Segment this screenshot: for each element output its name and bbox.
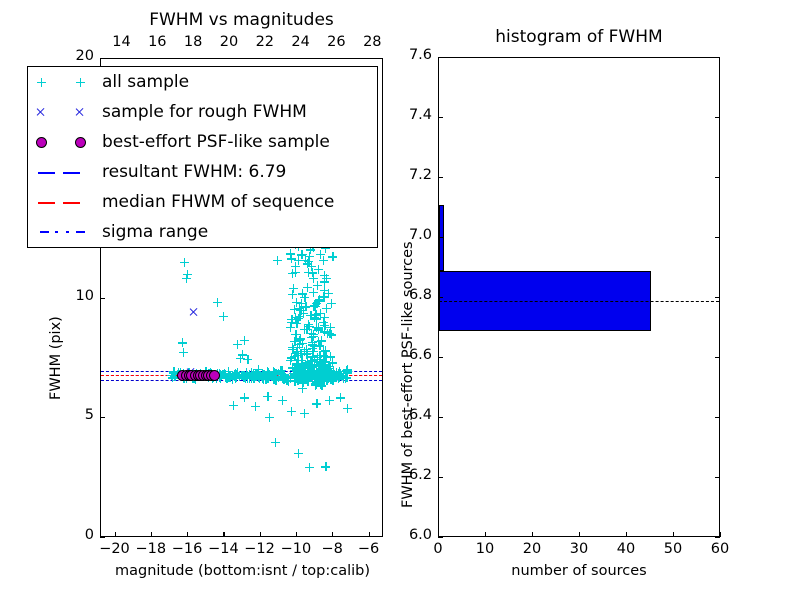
scatter-point-all-sample	[316, 369, 325, 378]
scatter-point-all-sample	[320, 362, 329, 371]
scatter-point-all-sample	[313, 377, 322, 386]
scatter-point-all-sample	[316, 380, 325, 389]
scatter-point-all-sample	[263, 392, 272, 401]
scatter-xlabel: magnitude (bottom:isnt / top:calib)	[101, 563, 384, 579]
scatter-point-all-sample	[311, 302, 320, 311]
scatter-point-all-sample	[310, 355, 319, 364]
scatter-point-all-sample	[297, 360, 306, 369]
legend-label-3: resultant FWHM: 6.79	[102, 162, 286, 182]
scatter-point-all-sample	[314, 366, 323, 375]
scatter-point-all-sample	[296, 306, 305, 315]
dashdot-line-icon	[66, 231, 69, 233]
scatter-point-all-sample	[292, 319, 301, 328]
scatter-point-all-sample	[295, 340, 304, 349]
scatter-ytick-label: 5	[48, 407, 94, 423]
scatter-point-all-sample	[302, 373, 311, 382]
histogram-ylabel: FWHM of best-effort PSF-like sources	[400, 241, 416, 508]
histogram-xtick-label: 20	[506, 541, 558, 557]
scatter-point-all-sample	[300, 362, 309, 371]
histogram-xtick-mark	[485, 532, 486, 537]
scatter-point-all-sample	[302, 350, 311, 359]
scatter-point-all-sample	[343, 365, 352, 374]
scatter-point-all-sample	[295, 312, 304, 321]
scatter-point-all-sample	[309, 330, 318, 339]
scatter-point-all-sample	[325, 329, 334, 338]
scatter-point-all-sample	[308, 361, 317, 370]
scatter-point-all-sample	[310, 342, 319, 351]
scatter-point-all-sample	[308, 352, 317, 361]
scatter-point-all-sample	[291, 330, 300, 339]
scatter-point-all-sample	[315, 295, 324, 304]
scatter-xtick-mark	[223, 532, 224, 537]
scatter-ytick-mark	[100, 298, 105, 299]
scatter-point-all-sample	[300, 409, 309, 418]
scatter-point-all-sample	[308, 347, 317, 356]
scatter-point-all-sample	[295, 304, 304, 313]
histogram-xtick-mark	[626, 532, 627, 537]
histogram-ytick-mark-right	[715, 237, 720, 238]
scatter-xtick-mark	[332, 532, 333, 537]
histogram-xtick-label: 40	[600, 541, 652, 557]
histogram-ytick-mark	[438, 117, 443, 118]
scatter-point-all-sample	[321, 365, 330, 374]
scatter-point-all-sample	[317, 359, 326, 368]
scatter-point-all-sample	[315, 351, 324, 360]
scatter-point-all-sample	[315, 357, 324, 366]
scatter-point-all-sample	[215, 369, 224, 378]
scatter-point-all-sample	[313, 353, 322, 362]
scatter-point-all-sample	[326, 366, 335, 375]
scatter-ytick-label: 20	[48, 48, 94, 64]
scatter-point-all-sample	[300, 347, 309, 356]
scatter-point-all-sample	[343, 404, 352, 413]
dashdot-line-icon	[76, 231, 85, 233]
scatter-point-all-sample	[251, 402, 260, 411]
scatter-point-all-sample	[311, 380, 320, 389]
histogram-xtick-label: 10	[459, 541, 511, 557]
scatter-point-all-sample	[182, 274, 191, 283]
histogram-ytick-mark	[438, 357, 443, 358]
scatter-point-all-sample	[219, 312, 228, 321]
scatter-point-all-sample	[319, 351, 328, 360]
scatter-point-all-sample	[290, 377, 299, 386]
scatter-point-all-sample	[328, 358, 337, 367]
scatter-point-all-sample	[291, 262, 300, 271]
scatter-point-all-sample	[307, 357, 316, 366]
legend-label-5: sigma range	[102, 222, 208, 242]
scatter-point-all-sample	[322, 352, 331, 361]
scatter-point-all-sample	[178, 338, 187, 347]
scatter-point-all-sample	[319, 347, 328, 356]
scatter-point-all-sample	[298, 250, 307, 259]
scatter-point-all-sample	[311, 381, 320, 390]
scatter-point-all-sample	[233, 340, 242, 349]
legend-handle-cross-icon	[28, 97, 102, 127]
histogram-xtick-label: 50	[647, 541, 699, 557]
scatter-point-all-sample	[301, 373, 310, 382]
scatter-point-all-sample	[294, 351, 303, 360]
scatter-point-all-sample	[292, 330, 301, 339]
plus-icon	[76, 78, 85, 87]
scatter-point-all-sample	[327, 299, 336, 308]
scatter-point-all-sample	[229, 401, 238, 410]
scatter-point-all-sample	[304, 268, 313, 277]
scatter-point-all-sample	[313, 281, 322, 290]
scatter-point-all-sample	[312, 360, 321, 369]
scatter-point-all-sample	[183, 270, 192, 279]
scatter-point-all-sample	[312, 323, 321, 332]
scatter-xtick-label: −6	[343, 541, 395, 557]
scatter-point-all-sample	[278, 396, 287, 405]
legend-entry-1: sample for rough FWHM	[28, 97, 377, 127]
scatter-point-all-sample	[321, 346, 330, 355]
histogram-ytick-mark-right	[715, 117, 720, 118]
scatter-point-all-sample	[297, 356, 306, 365]
scatter-point-all-sample	[320, 271, 329, 280]
scatter-point-all-sample	[302, 349, 311, 358]
scatter-point-all-sample	[298, 373, 307, 382]
scatter-point-all-sample	[236, 354, 245, 363]
scatter-point-all-sample	[305, 252, 314, 261]
scatter-point-all-sample	[325, 396, 334, 405]
dashdot-line-icon	[40, 231, 49, 233]
legend-entry-2: best-effort PSF-like sample	[28, 127, 377, 157]
scatter-point-all-sample	[297, 299, 306, 308]
scatter-point-all-sample	[320, 360, 329, 369]
scatter-point-all-sample	[307, 333, 316, 342]
scatter-point-all-sample	[320, 286, 329, 295]
scatter-point-all-sample	[312, 399, 321, 408]
scatter-point-all-sample	[303, 377, 312, 386]
scatter-point-all-sample	[240, 336, 249, 345]
scatter-point-all-sample	[309, 347, 318, 356]
scatter-point-all-sample	[322, 373, 331, 382]
scatter-point-all-sample	[252, 369, 261, 378]
scatter-point-all-sample	[254, 365, 263, 374]
histogram-ytick-mark-right	[715, 477, 720, 478]
scatter-point-all-sample	[271, 438, 280, 447]
scatter-point-all-sample	[306, 357, 315, 366]
histogram-ytick-mark	[438, 417, 443, 418]
scatter-point-all-sample	[288, 269, 297, 278]
scatter-point-all-sample	[207, 369, 216, 378]
scatter-point-all-sample	[303, 259, 312, 268]
dot-icon	[36, 137, 47, 148]
legend-label-4: median FHWM of sequence	[102, 192, 334, 212]
legend-entry-5: sigma range	[28, 217, 377, 247]
reference-line-sigma-range-low	[101, 380, 382, 381]
dashed-line-icon	[63, 202, 80, 204]
scatter-point-all-sample	[298, 377, 307, 386]
scatter-point-all-sample	[295, 336, 304, 345]
cross-icon	[36, 107, 46, 117]
scatter-point-all-sample	[320, 313, 329, 322]
scatter-point-all-sample	[287, 407, 296, 416]
dashed-line-icon	[63, 172, 80, 174]
scatter-ylabel: FWHM (pix)	[48, 316, 64, 400]
scatter-point-all-sample	[309, 332, 318, 341]
histogram-ytick-label: 7.4	[380, 107, 432, 123]
scatter-point-all-sample	[305, 463, 314, 472]
scatter-point-all-sample	[287, 353, 296, 362]
scatter-point-all-sample	[297, 362, 306, 371]
scatter-point-all-sample	[308, 268, 317, 277]
scatter-point-all-sample	[303, 358, 312, 367]
scatter-xtick-mark	[151, 532, 152, 537]
scatter-point-all-sample	[273, 256, 282, 265]
scatter-point-all-sample	[293, 359, 302, 368]
scatter-point-all-sample	[287, 315, 296, 324]
scatter-point-all-sample	[306, 366, 315, 375]
dashed-line-icon	[38, 172, 55, 174]
scatter-point-all-sample	[294, 314, 303, 323]
scatter-point-all-sample	[321, 462, 330, 471]
scatter-point-all-sample	[293, 343, 302, 352]
histogram-xtick-mark	[532, 532, 533, 537]
legend-handle-dashed-line-icon	[28, 187, 102, 217]
legend-entry-3: resultant FWHM: 6.79	[28, 157, 377, 187]
scatter-point-all-sample	[289, 369, 298, 378]
scatter-point-all-sample	[238, 350, 247, 359]
legend-handle-dashed-line-icon	[28, 157, 102, 187]
histogram-ytick-mark-right	[715, 357, 720, 358]
scatter-point-all-sample	[288, 345, 297, 354]
histogram-ytick-mark-right	[715, 177, 720, 178]
scatter-point-all-sample	[286, 323, 295, 332]
scatter-point-all-sample	[320, 293, 329, 302]
scatter-point-all-sample	[296, 334, 305, 343]
legend-handle-dashdot-line-icon	[28, 217, 102, 247]
scatter-point-all-sample	[327, 330, 336, 339]
histogram-ytick-mark	[438, 537, 443, 538]
scatter-point-all-sample	[312, 310, 321, 319]
histogram-ytick-mark	[438, 177, 443, 178]
scatter-point-all-sample	[298, 360, 307, 369]
histogram-ytick-mark	[438, 237, 443, 238]
histogram-plot-area	[439, 58, 719, 536]
histogram-ytick-mark-right	[715, 297, 720, 298]
scatter-point-all-sample	[315, 296, 324, 305]
scatter-point-rough-fwhm	[189, 307, 199, 317]
scatter-point-all-sample	[286, 249, 295, 258]
scatter-point-all-sample	[297, 250, 306, 259]
scatter-point-all-sample	[302, 325, 311, 334]
scatter-point-all-sample	[316, 309, 325, 318]
scatter-point-all-sample	[287, 318, 296, 327]
scatter-point-all-sample	[316, 359, 325, 368]
scatter-point-all-sample	[320, 321, 329, 330]
scatter-point-all-sample	[342, 366, 351, 375]
scatter-point-all-sample	[318, 369, 327, 378]
scatter-point-all-sample	[294, 449, 303, 458]
scatter-point-all-sample	[305, 322, 314, 331]
cross-icon	[75, 107, 85, 117]
histogram-xtick-mark	[579, 532, 580, 537]
scatter-point-all-sample	[292, 361, 301, 370]
histogram-axes	[438, 57, 720, 537]
scatter-point-all-sample	[292, 359, 301, 368]
scatter-point-all-sample	[301, 360, 310, 369]
scatter-ytick-mark	[100, 537, 105, 538]
dashdot-line-icon	[55, 231, 58, 233]
scatter-point-all-sample	[288, 290, 297, 299]
scatter-ytick-label: 0	[48, 527, 94, 543]
scatter-xtick-mark	[260, 532, 261, 537]
reference-line-median-fhwm-of-sequence	[101, 375, 382, 376]
scatter-point-all-sample	[312, 299, 321, 308]
scatter-point-all-sample	[303, 349, 312, 358]
scatter-point-all-sample	[311, 311, 320, 320]
scatter-point-all-sample	[328, 376, 337, 385]
scatter-point-all-sample	[287, 315, 296, 324]
histogram-ytick-mark	[438, 57, 443, 58]
scatter-point-all-sample	[213, 298, 222, 307]
legend-box: all samplesample for rough FWHMbest-effo…	[27, 66, 378, 248]
scatter-point-all-sample	[314, 265, 323, 274]
scatter-point-all-sample	[304, 257, 313, 266]
scatter-point-all-sample	[302, 345, 311, 354]
scatter-point-all-sample	[304, 363, 313, 372]
scatter-point-all-sample	[304, 320, 313, 329]
scatter-point-all-sample	[321, 357, 330, 366]
histogram-ytick-label: 7.2	[380, 167, 432, 183]
scatter-point-all-sample	[179, 348, 188, 357]
scatter-point-all-sample	[300, 325, 309, 334]
histogram-ytick-label: 6.0	[380, 527, 432, 543]
scatter-point-all-sample	[240, 393, 249, 402]
scatter-xtick-mark	[369, 532, 370, 537]
scatter-point-all-sample	[309, 288, 318, 297]
histogram-ytick-mark-right	[715, 537, 720, 538]
scatter-point-all-sample	[179, 369, 188, 378]
histogram-xtick-mark	[720, 532, 721, 537]
legend-entry-0: all sample	[28, 67, 377, 97]
scatter-point-all-sample	[290, 305, 299, 314]
scatter-point-all-sample	[298, 339, 307, 348]
scatter-point-all-sample	[298, 384, 307, 393]
histogram-xtick-label: 60	[694, 541, 746, 557]
scatter-point-all-sample	[292, 347, 301, 356]
scatter-point-all-sample	[326, 352, 335, 361]
scatter-point-all-sample	[307, 329, 316, 338]
scatter-point-all-sample	[302, 325, 311, 334]
scatter-point-all-sample	[284, 377, 293, 386]
scatter-point-all-sample	[322, 304, 331, 313]
scatter-point-all-sample	[321, 373, 330, 382]
scatter-point-all-sample	[265, 413, 274, 422]
scatter-xtick-mark	[296, 532, 297, 537]
scatter-point-all-sample	[294, 256, 303, 265]
scatter-point-all-sample	[322, 274, 331, 283]
scatter-point-all-sample	[315, 376, 324, 385]
scatter-ytick-label: 10	[48, 288, 94, 304]
scatter-point-all-sample	[304, 360, 313, 369]
scatter-point-all-sample	[319, 292, 328, 301]
histogram-xtick-mark	[673, 532, 674, 537]
scatter-point-all-sample	[326, 323, 335, 332]
scatter-point-all-sample	[292, 298, 301, 307]
scatter-point-all-sample	[301, 256, 310, 265]
scatter-point-all-sample	[293, 351, 302, 360]
scatter-point-all-sample	[317, 381, 326, 390]
scatter-point-all-sample	[307, 262, 316, 271]
scatter-point-all-sample	[325, 362, 334, 371]
figure-canvas: FWHM vs magnitudes 1416182022242628 −20−…	[0, 0, 800, 600]
scatter-point-all-sample	[289, 284, 298, 293]
scatter-point-all-sample	[311, 377, 320, 386]
scatter-point-all-sample	[314, 323, 323, 332]
scatter-point-all-sample	[310, 301, 319, 310]
scatter-point-all-sample	[243, 355, 252, 364]
scatter-point-all-sample	[307, 362, 316, 371]
scatter-point-all-sample	[314, 325, 323, 334]
scatter-point-all-sample	[317, 365, 326, 374]
histogram-ytick-mark	[438, 477, 443, 478]
scatter-point-all-sample	[304, 361, 313, 370]
scatter-point-all-sample	[303, 360, 312, 369]
scatter-point-all-sample	[314, 337, 323, 346]
scatter-point-all-sample	[319, 377, 328, 386]
scatter-ytick-mark	[100, 417, 105, 418]
histogram-reference-line	[439, 301, 719, 302]
scatter-point-all-sample	[321, 352, 330, 361]
scatter-point-all-sample	[308, 340, 317, 349]
scatter-xtick-mark	[187, 532, 188, 537]
scatter-point-all-sample	[319, 256, 328, 265]
scatter-point-all-sample	[239, 373, 248, 382]
scatter-point-all-sample	[291, 313, 300, 322]
scatter-point-all-sample	[324, 289, 333, 298]
scatter-point-all-sample	[323, 329, 332, 338]
legend-handle-dot-icon	[28, 127, 102, 157]
histogram-xtick-label: 30	[553, 541, 605, 557]
scatter-point-all-sample	[301, 302, 310, 311]
scatter-point-all-sample	[286, 356, 295, 365]
scatter-point-all-sample	[312, 314, 321, 323]
scatter-point-all-sample	[323, 376, 332, 385]
scatter-point-all-sample	[320, 358, 329, 367]
scatter-point-all-sample	[290, 352, 299, 361]
histogram-title: histogram of FWHM	[438, 27, 720, 47]
scatter-point-all-sample	[308, 356, 317, 365]
scatter-point-all-sample	[314, 296, 323, 305]
scatter-point-all-sample	[241, 373, 250, 382]
scatter-point-all-sample	[328, 252, 337, 261]
scatter-point-all-sample	[288, 343, 297, 352]
legend-entry-4: median FHWM of sequence	[28, 187, 377, 217]
scatter-point-all-sample	[291, 366, 300, 375]
scatter-point-all-sample	[298, 289, 307, 298]
scatter-point-all-sample	[317, 336, 326, 345]
histogram-ytick-label: 7.6	[380, 47, 432, 63]
scatter-point-all-sample	[317, 369, 326, 378]
scatter-point-all-sample	[180, 258, 189, 267]
scatter-point-all-sample	[315, 341, 324, 350]
scatter-point-all-sample	[303, 283, 312, 292]
scatter-point-all-sample	[299, 309, 308, 318]
scatter-point-all-sample	[213, 369, 222, 378]
scatter-xtick-mark	[115, 532, 116, 537]
legend-label-1: sample for rough FWHM	[102, 102, 307, 122]
scatter-point-all-sample	[293, 376, 302, 385]
scatter-point-all-sample	[316, 250, 325, 259]
scatter-point-all-sample	[319, 318, 328, 327]
scatter-point-all-sample	[303, 362, 312, 371]
scatter-point-all-sample	[320, 277, 329, 286]
scatter-point-all-sample	[290, 337, 299, 346]
scatter-point-all-sample	[318, 366, 327, 375]
scatter-point-all-sample	[297, 373, 306, 382]
